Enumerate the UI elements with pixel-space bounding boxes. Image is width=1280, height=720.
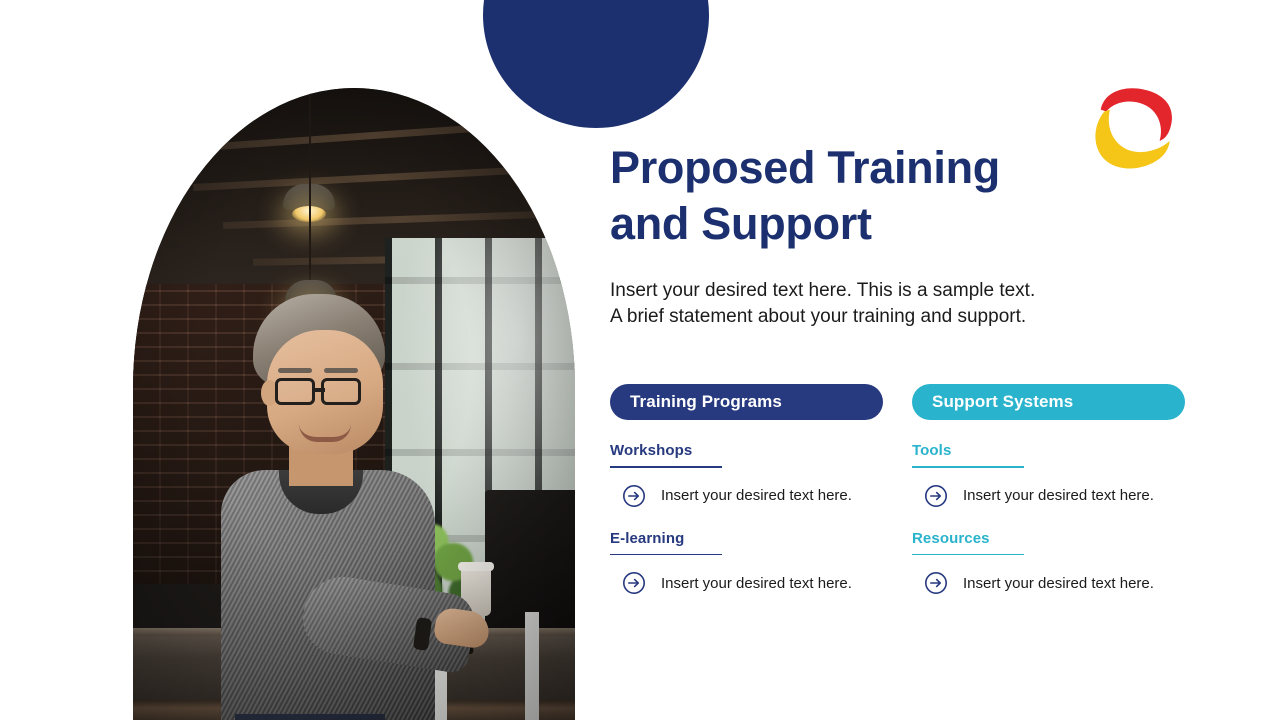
photo-monitor: [485, 490, 575, 630]
subheading-resources: Resources: [912, 530, 1185, 547]
subheading-rule: [610, 466, 722, 468]
person-eyeglasses-bridge: [313, 388, 325, 392]
person-eyeglasses: [321, 378, 361, 405]
column-training-programs: Training Programs Workshops Insert your …: [610, 384, 883, 595]
list-item: Insert your desired text here.: [912, 571, 1185, 595]
content-columns: Training Programs Workshops Insert your …: [610, 384, 1210, 595]
photo-lamp-cord: [309, 88, 311, 282]
pill-support-systems[interactable]: Support Systems: [912, 384, 1185, 420]
subheading-rule: [912, 554, 1024, 556]
subheading-tools: Tools: [912, 442, 1185, 459]
hero-photo: [133, 88, 575, 720]
photo-person: [133, 284, 403, 720]
person-legs: [235, 714, 385, 720]
list-item: Insert your desired text here.: [610, 571, 883, 595]
circle-arrow-right-icon: [924, 484, 948, 508]
pill-training-programs[interactable]: Training Programs: [610, 384, 883, 420]
subheading-workshops: Workshops: [610, 442, 883, 459]
subheading-rule: [610, 554, 722, 556]
slide-canvas: Proposed Training and Support Insert you…: [0, 0, 1280, 720]
person-eyebrow: [324, 368, 358, 373]
photo-coffee-cup-lid: [458, 562, 494, 571]
list-item-text: Insert your desired text here.: [661, 575, 852, 592]
subheading-e-learning: E-learning: [610, 530, 883, 547]
list-item-text: Insert your desired text here.: [661, 487, 852, 504]
column-support-systems: Support Systems Tools Insert your desire…: [912, 384, 1185, 595]
list-item: Insert your desired text here.: [610, 484, 883, 508]
page-title: Proposed Training and Support: [610, 140, 1080, 252]
photo-scene: [133, 88, 575, 720]
person-eyeglasses: [275, 378, 315, 405]
circle-arrow-right-icon: [622, 484, 646, 508]
list-item: Insert your desired text here.: [912, 484, 1185, 508]
photo-desk-leg: [525, 612, 539, 720]
person-eyebrow: [278, 368, 312, 373]
subheading-rule: [912, 466, 1024, 468]
list-item-text: Insert your desired text here.: [963, 487, 1154, 504]
list-item-text: Insert your desired text here.: [963, 575, 1154, 592]
circle-arrow-right-icon: [622, 571, 646, 595]
headline-block: Proposed Training and Support Insert you…: [610, 140, 1210, 330]
page-subtitle: Insert your desired text here. This is a…: [610, 278, 1210, 330]
circle-arrow-right-icon: [924, 571, 948, 595]
